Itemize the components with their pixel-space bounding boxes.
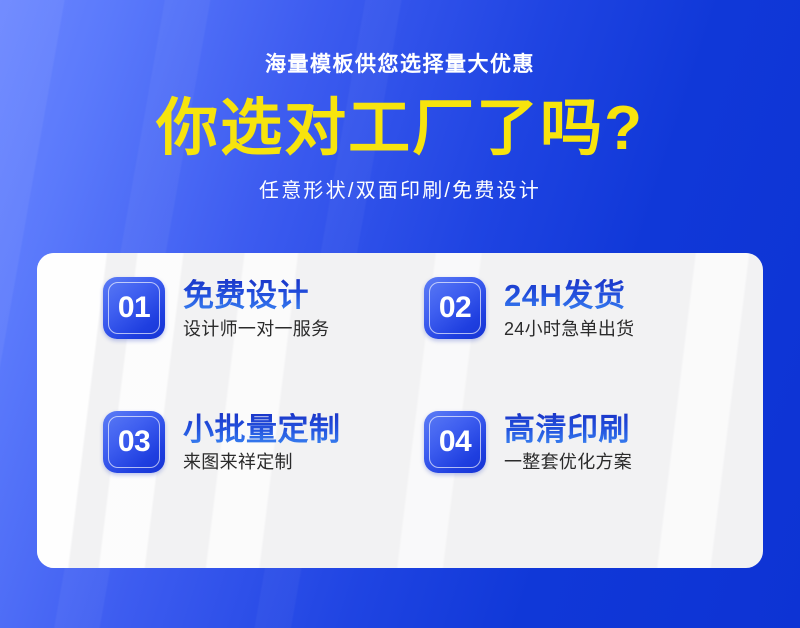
banner-header: 海量模板供您选择量大优惠 你选对工厂了吗? 任意形状/双面印刷/免费设计	[0, 0, 800, 201]
badge-number-label: 01	[103, 277, 165, 339]
badge-number-label: 04	[424, 411, 486, 473]
feature-subtitle: 来图来祥定制	[183, 452, 341, 474]
feature-title: 小批量定制	[183, 413, 341, 448]
badge-number-label: 02	[424, 277, 486, 339]
feature-item-03: 03 小批量定制 来图来祥定制	[103, 411, 424, 545]
feature-subtitle: 设计师一对一服务	[183, 319, 329, 341]
promo-banner: 海量模板供您选择量大优惠 你选对工厂了吗? 任意形状/双面印刷/免费设计 01 …	[0, 0, 800, 628]
feature-text-03: 小批量定制 来图来祥定制	[183, 411, 341, 474]
feature-item-04: 04 高清印刷 一整套优化方案	[424, 411, 745, 545]
eyebrow-text: 海量模板供您选择量大优惠	[0, 54, 800, 75]
number-badge-02: 02	[424, 277, 486, 339]
feature-text-01: 免费设计 设计师一对一服务	[183, 277, 329, 340]
feature-item-01: 01 免费设计 设计师一对一服务	[103, 277, 424, 411]
feature-title: 24H发货	[504, 279, 634, 314]
feature-text-02: 24H发货 24小时急单出货	[504, 277, 634, 340]
badge-number-label: 03	[103, 411, 165, 473]
number-badge-03: 03	[103, 411, 165, 473]
feature-subtitle: 24小时急单出货	[504, 319, 634, 341]
number-badge-01: 01	[103, 277, 165, 339]
feature-card: 01 免费设计 设计师一对一服务 02 24H发货 24小时急单出货	[37, 253, 763, 568]
feature-subtitle: 一整套优化方案	[504, 452, 632, 474]
feature-title: 免费设计	[183, 279, 329, 314]
headline-text: 你选对工厂了吗?	[0, 96, 800, 161]
feature-text-04: 高清印刷 一整套优化方案	[504, 411, 632, 474]
feature-title: 高清印刷	[504, 413, 632, 448]
tagline-text: 任意形状/双面印刷/免费设计	[0, 181, 800, 201]
number-badge-04: 04	[424, 411, 486, 473]
feature-item-02: 02 24H发货 24小时急单出货	[424, 277, 745, 411]
feature-grid: 01 免费设计 设计师一对一服务 02 24H发货 24小时急单出货	[37, 253, 763, 568]
